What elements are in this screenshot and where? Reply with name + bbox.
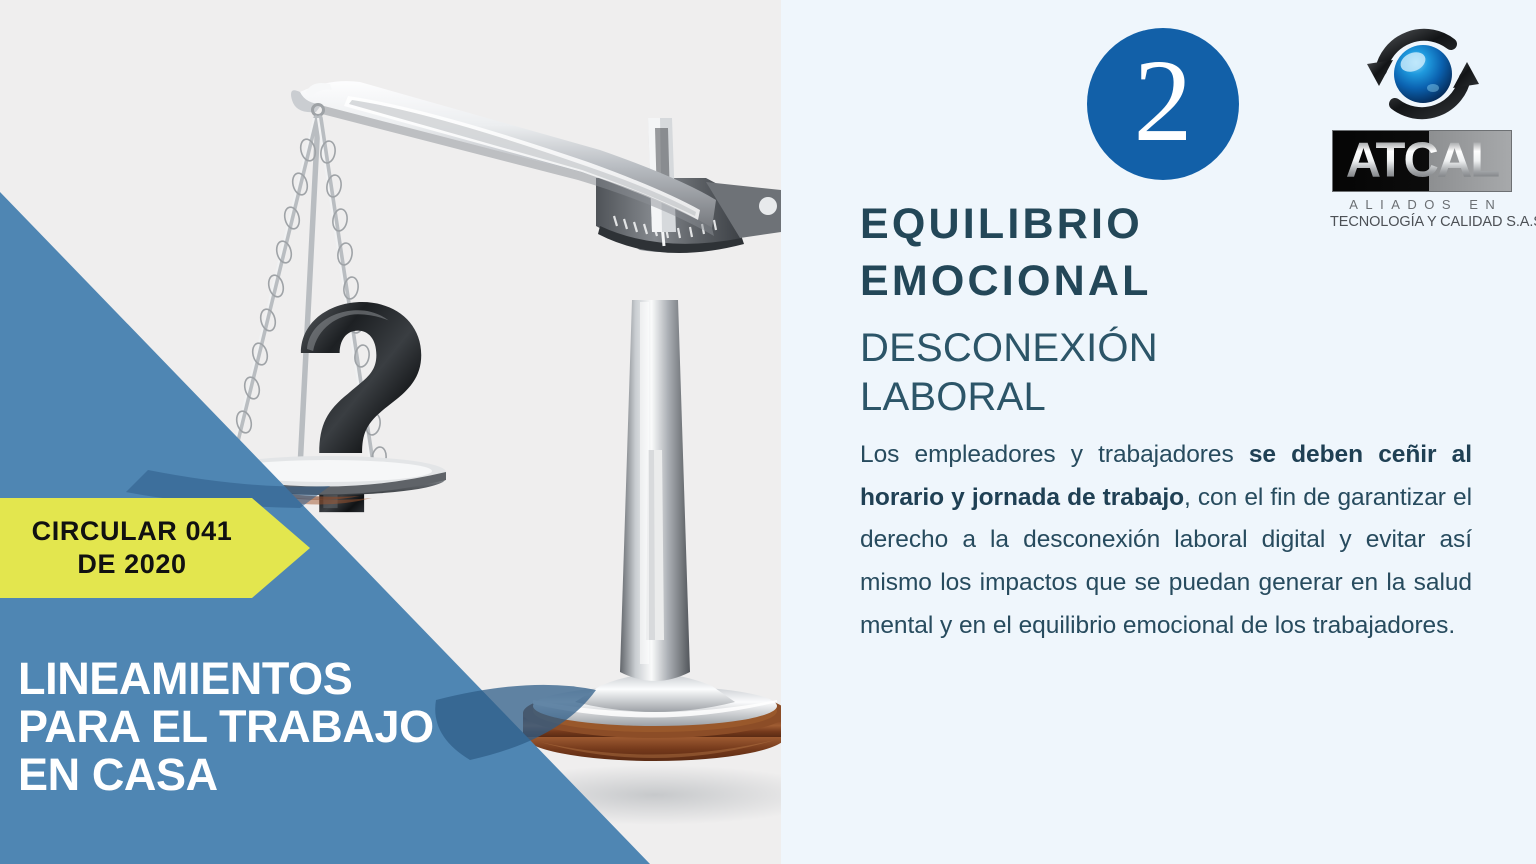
headline-line2: PARA EL TRABAJO xyxy=(18,703,578,751)
right-panel: 2 xyxy=(781,0,1536,864)
logo-tagline-1: ALIADOS EN xyxy=(1330,197,1514,212)
left-panel: CIRCULAR 041 DE 2020 LINEAMIENTOS PARA E… xyxy=(0,0,781,864)
circular-banner-line1: CIRCULAR 041 xyxy=(32,515,279,548)
title-sub-line1: DESCONEXIÓN xyxy=(860,324,1472,373)
right-panel-content: EQUILIBRIO EMOCIONAL DESCONEXIÓN LABORAL… xyxy=(860,196,1472,648)
circular-banner: CIRCULAR 041 DE 2020 xyxy=(0,498,310,598)
body-part-3: equilibrio emocional de los trabajadores… xyxy=(1019,612,1456,639)
logo-wordmark-box: ATCAL xyxy=(1332,130,1512,192)
atcal-logo: ATCAL ALIADOS EN TECNOLOGÍA Y CALIDAD S.… xyxy=(1326,20,1521,230)
title-main-line2: EMOCIONAL xyxy=(860,253,1472,310)
step-number: 2 xyxy=(1134,42,1193,160)
circular-banner-line2: DE 2020 xyxy=(77,548,232,581)
headline-line1: LINEAMIENTOS xyxy=(18,655,578,703)
sphere-with-arrows-icon xyxy=(1353,20,1493,128)
headline-line3: EN CASA xyxy=(18,751,578,799)
body-part-1: Los empleadores y trabajadores xyxy=(860,441,1249,468)
headline: LINEAMIENTOS PARA EL TRABAJO EN CASA xyxy=(18,655,578,799)
step-number-badge: 2 xyxy=(1087,28,1239,180)
logo-tagline-2: TECNOLOGÍA Y CALIDAD S.A.S. xyxy=(1330,214,1514,230)
body-paragraph: Los empleadores y trabajadores se deben … xyxy=(860,434,1472,648)
title-sub: DESCONEXIÓN LABORAL xyxy=(860,324,1472,422)
logo-wordmark-text: ATCAL xyxy=(1333,137,1511,186)
logo-mark xyxy=(1326,20,1521,128)
title-sub-line2: LABORAL xyxy=(860,373,1472,422)
slide-canvas: CIRCULAR 041 DE 2020 LINEAMIENTOS PARA E… xyxy=(0,0,1536,864)
